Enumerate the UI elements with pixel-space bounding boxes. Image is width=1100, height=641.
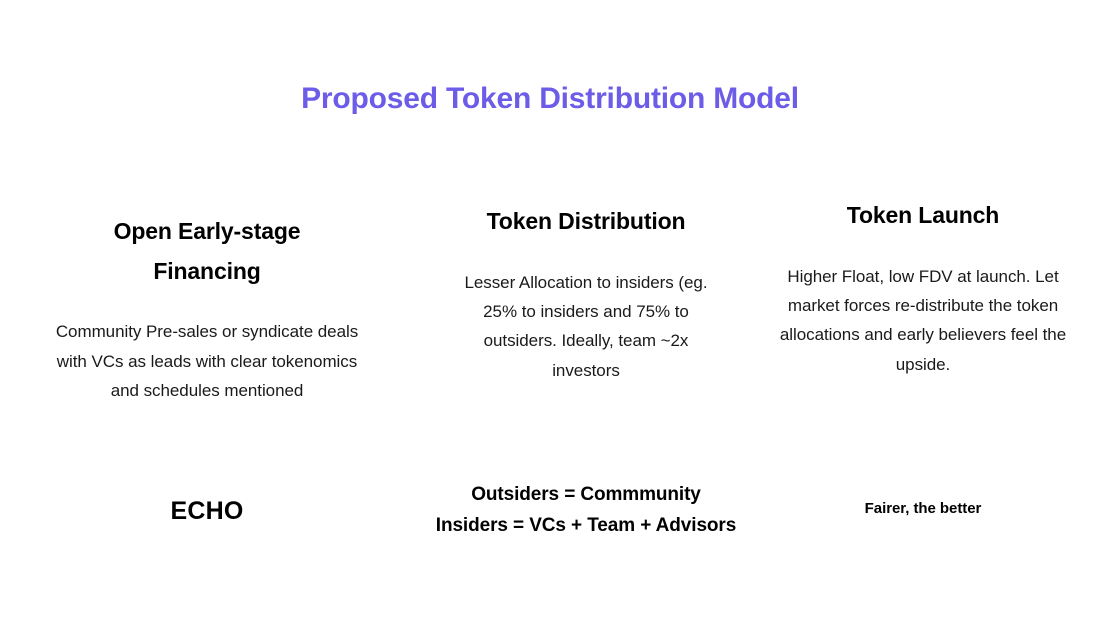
column-token-launch: Token Launch Higher Float, low FDV at la… — [763, 190, 1083, 379]
column-2-body: Lesser Allocation to insiders (eg. 25% t… — [451, 268, 721, 386]
page-title: Proposed Token Distribution Model — [0, 80, 1100, 118]
slide-canvas: Proposed Token Distribution Model Open E… — [0, 0, 1100, 641]
column-token-distribution: Token Distribution Lesser Allocation to … — [421, 190, 751, 385]
column-1-body: Community Pre-sales or syndicate deals w… — [42, 317, 372, 405]
column-1-heading: Open Early-stage Financing — [57, 212, 357, 291]
footers-container: ECHO Outsiders = Commmunity Insiders = V… — [0, 480, 1100, 542]
columns-container: Open Early-stage Financing Community Pre… — [0, 190, 1100, 405]
column-3-footer-fairer-the-better: Fairer, the better — [763, 480, 1083, 517]
column-2-footer-line-2: Insiders = VCs + Team + Advisors — [421, 511, 751, 542]
column-3-heading: Token Launch — [847, 196, 999, 236]
column-3-body: Higher Float, low FDV at launch. Let mar… — [778, 262, 1068, 380]
column-1-footer-echo: ECHO — [17, 480, 397, 526]
column-2-footer-line-1: Outsiders = Commmunity — [421, 480, 751, 511]
column-open-early-stage-financing: Open Early-stage Financing Community Pre… — [17, 190, 397, 405]
column-2-footer: Outsiders = Commmunity Insiders = VCs + … — [421, 480, 751, 542]
column-2-heading: Token Distribution — [487, 202, 686, 242]
